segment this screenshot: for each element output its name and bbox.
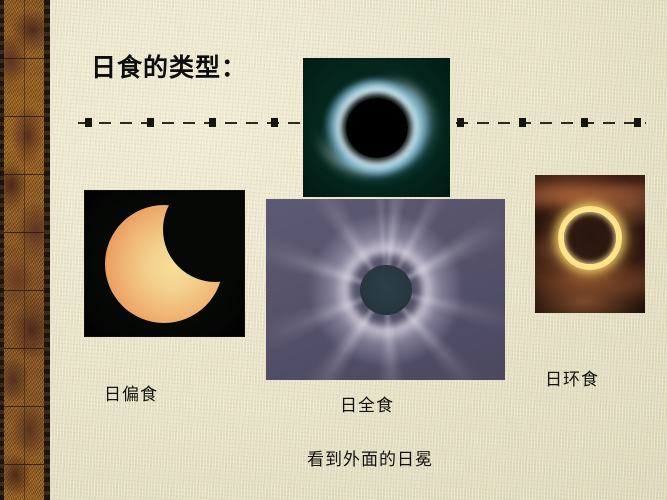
band-horizontal-rule: [3, 116, 44, 117]
band-horizontal-rule: [3, 348, 44, 349]
band-horizontal-rule: [3, 290, 44, 291]
band-horizontal-rule: [3, 232, 44, 233]
ring-of-fire: [558, 206, 622, 270]
divider-dot: [147, 118, 154, 127]
divider-dot: [85, 118, 92, 127]
band-vertical-rule: [24, 0, 25, 500]
film-strip-border: [0, 0, 50, 500]
photo-partial-eclipse: [84, 190, 245, 337]
moon-disk: [346, 98, 408, 158]
photo-total-eclipse-corona: [266, 199, 505, 380]
band-horizontal-rule: [3, 58, 44, 59]
caption-annular-eclipse: 日环食: [545, 365, 599, 390]
divider-dot: [634, 118, 641, 127]
band-sprocket-edge-left: [0, 0, 4, 500]
moon-disk: [360, 265, 412, 315]
band-horizontal-rule: [3, 174, 44, 175]
photo-annular-eclipse: [535, 175, 645, 313]
caption-partial-eclipse: 日偏食: [104, 380, 158, 405]
divider-dot: [271, 118, 278, 127]
caption-total-eclipse: 日全食: [340, 391, 394, 416]
band-horizontal-rule: [3, 406, 44, 407]
divider-dot: [581, 118, 588, 127]
page-title: 日食的类型：: [91, 48, 247, 84]
band-sprocket-edge-right: [44, 0, 50, 500]
caption-corona-note: 看到外面的日冕: [307, 445, 433, 470]
divider-dot: [209, 118, 216, 127]
band-horizontal-rule: [3, 464, 44, 465]
divider-dot: [457, 118, 464, 127]
divider-dot: [519, 118, 526, 127]
slide-canvas: 日食的类型： 日偏食 日全食 看到外面的日冕: [0, 0, 667, 500]
photo-total-eclipse-top: [303, 58, 450, 197]
